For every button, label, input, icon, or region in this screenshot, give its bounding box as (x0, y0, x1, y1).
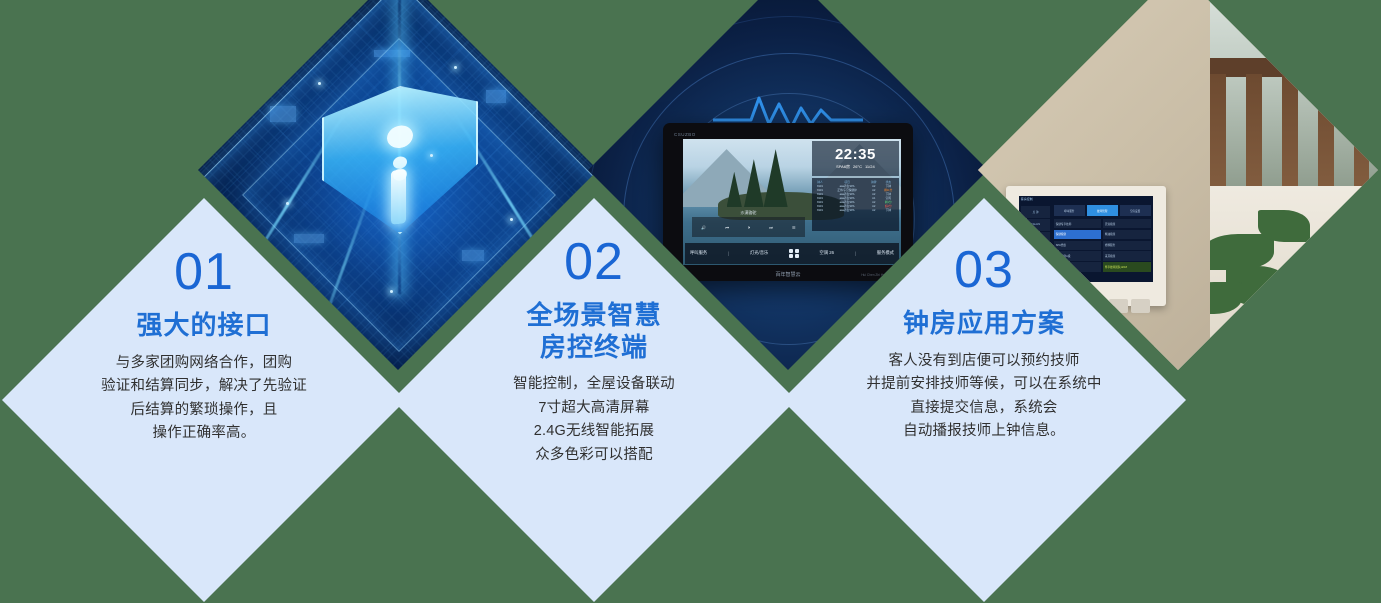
panel-service-list: 保健专享技师 足浴按摩 保健按摩 精油按摩 SPA经络 修脚服务 养生按摩A级 … (1054, 219, 1151, 272)
prev-icon: ⏮ (725, 225, 729, 230)
list-item: 采耳按摩 (1103, 251, 1151, 260)
spark-dot (454, 66, 457, 69)
desc-line: 客人没有到店便可以预约技师 (866, 350, 1101, 373)
desc-line: 智能控制，全屋设备联动 (513, 373, 675, 396)
tablet-footer-note: Hui Chen Zhi Hui Yi Jia Zhi Hui (861, 274, 905, 278)
list-item: 精油按摩 (1103, 230, 1151, 239)
clock-widget: 22:35 SPA6房 26°C 11/24 (812, 141, 899, 176)
date-label: 11/24 (865, 164, 875, 170)
bottom-btn-2: 空调 26 (819, 250, 834, 256)
plant-leaf (1202, 234, 1274, 270)
rail-post (1354, 74, 1370, 234)
card-3-heading: 钟房应用方案 (903, 308, 1065, 340)
desc-line: 操作正确率高。 (101, 422, 307, 445)
temperature-label: 26°C (853, 164, 862, 170)
card-2-number: 02 (564, 236, 624, 288)
card-3-description: 客人没有到店便可以预约技师 并提前安排技师等候，可以在系统中 直接提交信息，系统… (866, 350, 1101, 444)
list-item: 足浴按摩 (1103, 219, 1151, 228)
divider: | (855, 251, 856, 256)
desc-line: 直接提交信息，系统会 (866, 397, 1101, 420)
technician-table-widget: 钟人 项目 钟牌 状态 8119ава养生SPAA2下钟 8119正骨/子宫保健… (812, 178, 899, 231)
bottom-btn-1: 灯光/音乐 (750, 250, 768, 256)
tablet-screen: 22:35 SPA6房 26°C 11/24 钟人 项目 钟牌 (683, 139, 901, 265)
card-2-description: 智能控制，全屋设备联动 7寸超大高清屏幕 2.4G无线智能拓展 众多色彩可以搭配 (513, 373, 675, 467)
tablet-brand-label: CSUZBO (674, 132, 696, 137)
heading-line: 房控终端 (526, 332, 661, 364)
next-icon: ⏭ (769, 225, 773, 230)
panel-tab-0: 呼叫服务 (1054, 205, 1085, 216)
desc-line: 与多家团购网络合作，团购 (101, 352, 307, 375)
table-row: 8119ава养生SPAA2下钟 (814, 208, 897, 212)
desc-line: 并提前安排技师等候，可以在系统中 (866, 373, 1101, 396)
side-btn-1: CALLIN (1021, 219, 1049, 231)
room-label: SPA6房 (836, 164, 850, 170)
bottom-btn-3: 服务模式 (877, 250, 894, 256)
spark-dot (390, 290, 393, 293)
technician-table: 钟人 项目 钟牌 状态 8119ава养生SPAA2下钟 8119正骨/子宫保健… (814, 180, 897, 212)
desc-line: 7寸超大高清屏幕 (513, 397, 675, 420)
hw-button (1109, 299, 1128, 313)
clock-time: 22:35 (835, 147, 876, 162)
apps-grid-icon (789, 249, 799, 259)
list-item: 保健专享技师 (1054, 219, 1102, 228)
list-item: 尊享技师团队12/18 (1103, 262, 1151, 271)
spark-dot (430, 154, 433, 157)
card-3-number: 03 (954, 244, 1014, 296)
hw-button (1131, 299, 1150, 313)
desc-line: 自动播报技师上钟信息。 (866, 420, 1101, 443)
panel-tab-bar: 呼叫服务 技师管理 空房设置 (1054, 205, 1151, 216)
divider: | (728, 251, 729, 256)
media-control-bar: 沙漠骆驼 🔊 ⏮ ⏵ ⏭ ☰ (692, 217, 805, 237)
side-btn-0: 点 钟 (1021, 206, 1049, 218)
play-icon: ⏵ (748, 225, 750, 230)
tree-shape (764, 149, 788, 207)
desc-line: 2.4G无线智能拓展 (513, 420, 675, 443)
tablet-bottom-bar: 呼叫服务 | 灯光/音乐 空调 26 | 服务模式 (685, 243, 899, 264)
heading-line: 全场景智慧 (526, 300, 661, 332)
panel-title: 客房控制 (1021, 197, 1033, 201)
spark-dot (286, 202, 289, 205)
list-item: 修脚服务 (1103, 241, 1151, 250)
keyhole-icon (391, 169, 406, 225)
bottom-btn-0: 呼叫服务 (690, 250, 707, 256)
card-1-description: 与多家团购网络合作，团购 验证和结算同步，解决了先验证 后结算的繁琐操作，且 操… (101, 352, 307, 446)
infographic-stage: CSUZBO 22:35 SPA6房 26°C (0, 0, 1381, 603)
panel-tab-1: 技师管理 (1087, 205, 1118, 216)
list-item: 保健按摩 (1054, 230, 1102, 239)
media-title: 沙漠骆驼 (740, 210, 756, 216)
panel-tab-2: 空房设置 (1120, 205, 1151, 216)
desc-line: 众多色彩可以搭配 (513, 444, 675, 467)
list-item: 高级技师A区 (1054, 262, 1102, 271)
clock-subline: SPA6房 26°C 11/24 (836, 164, 875, 170)
list-icon: ☰ (792, 225, 796, 230)
card-2-heading: 全场景智慧 房控终端 (526, 300, 661, 363)
desc-line: 验证和结算同步，解决了先验证 (101, 375, 307, 398)
volume-icon: 🔊 (701, 225, 706, 230)
plant-leaf (1258, 210, 1310, 242)
tablet-device: CSUZBO 22:35 SPA6房 26°C (663, 123, 913, 281)
spark-dot (510, 218, 513, 221)
list-item: SPA经络 (1054, 241, 1102, 250)
card-1-heading: 强大的接口 (136, 310, 271, 342)
card-1-number: 01 (174, 246, 234, 298)
desc-line: 后结算的繁琐操作，且 (101, 399, 307, 422)
spark-dot (318, 82, 321, 85)
tablet-footer-logo: 百年智慧云 (775, 271, 800, 278)
list-item: 养生按摩A级 (1054, 251, 1102, 260)
